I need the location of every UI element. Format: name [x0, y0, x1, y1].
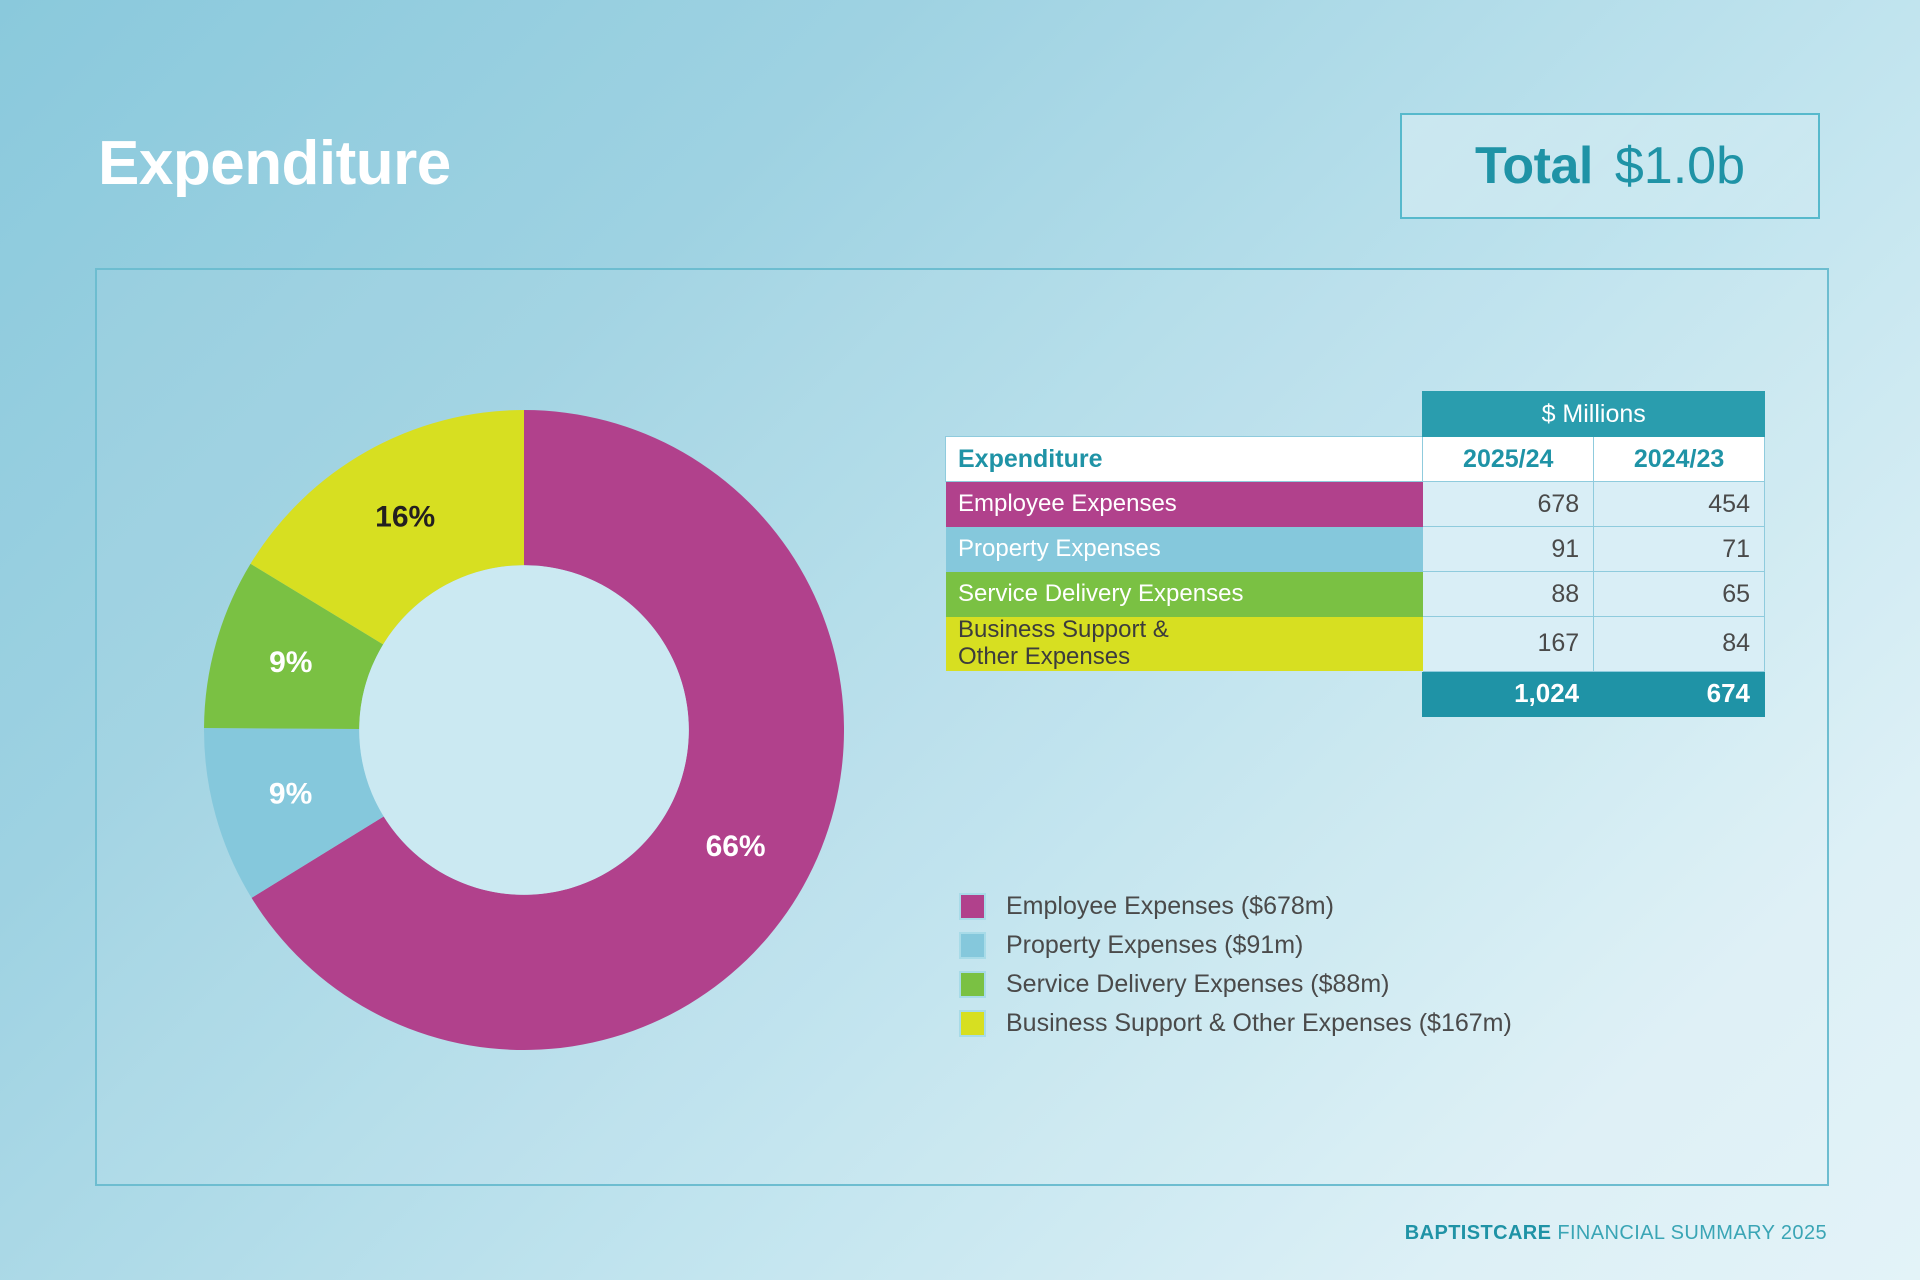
total-badge: Total $1.0b — [1400, 113, 1820, 219]
expenditure-table: $ Millions Expenditure 2025/24 2024/23 E… — [945, 391, 1765, 717]
donut-label-employee: 66% — [706, 830, 766, 863]
donut-center-hole — [359, 565, 689, 895]
legend-item-business: Business Support & Other Expenses ($167m… — [959, 1010, 1512, 1037]
footer: BAPTISTCARE FINANCIAL SUMMARY 2025 — [1405, 1222, 1827, 1245]
row-value-service-prior: 65 — [1594, 572, 1765, 617]
units-blank-cell — [946, 392, 1423, 437]
table-row: Employee Expenses 678 454 — [946, 482, 1765, 527]
table-row: Business Support & Other Expenses 167 84 — [946, 617, 1765, 672]
total-value: $1.0b — [1615, 136, 1745, 196]
row-label-service-delivery-expenses: Service Delivery Expenses — [946, 572, 1423, 617]
page-title: Expenditure — [98, 133, 451, 195]
row-value-employee-prior: 454 — [1594, 482, 1765, 527]
row-label-property-expenses: Property Expenses — [946, 527, 1423, 572]
legend-label-service: Service Delivery Expenses ($88m) — [1006, 972, 1389, 997]
table-row: Service Delivery Expenses 88 65 — [946, 572, 1765, 617]
table-header-row: Expenditure 2025/24 2024/23 — [946, 437, 1765, 482]
row-value-employee-current: 678 — [1423, 482, 1594, 527]
legend-item-property: Property Expenses ($91m) — [959, 932, 1512, 959]
legend-label-property: Property Expenses ($91m) — [1006, 933, 1303, 958]
legend-swatch-employee-icon — [959, 893, 986, 920]
row-value-service-current: 88 — [1423, 572, 1594, 617]
legend-swatch-business-icon — [959, 1010, 986, 1037]
column-header-2024-23: 2024/23 — [1594, 437, 1765, 482]
units-header-cell: $ Millions — [1423, 392, 1765, 437]
row-value-business-current: 167 — [1423, 617, 1594, 672]
total-label: Total — [1475, 136, 1593, 196]
donut-label-business: 16% — [375, 501, 435, 534]
total-blank-cell — [946, 671, 1423, 716]
row-label-business-line2: Other Expenses — [958, 644, 1422, 671]
row-label-business-line1: Business Support & — [958, 617, 1422, 644]
row-value-business-prior: 84 — [1594, 617, 1765, 672]
expenditure-donut-chart: 66%9%9%16% — [204, 410, 844, 1050]
footer-brand: BAPTISTCARE — [1405, 1222, 1552, 1244]
legend-label-employee: Employee Expenses ($678m) — [1006, 894, 1334, 919]
donut-label-property: 9% — [269, 777, 312, 810]
row-value-property-prior: 71 — [1594, 527, 1765, 572]
row-label-business-support-expenses: Business Support & Other Expenses — [946, 617, 1423, 672]
legend-swatch-service-icon — [959, 971, 986, 998]
footer-text: FINANCIAL SUMMARY 2025 — [1551, 1222, 1827, 1244]
chart-legend: Employee Expenses ($678m) Property Expen… — [959, 893, 1512, 1037]
column-header-2025-24: 2025/24 — [1423, 437, 1594, 482]
row-label-employee-expenses: Employee Expenses — [946, 482, 1423, 527]
table-units-row: $ Millions — [946, 392, 1765, 437]
table-row: Property Expenses 91 71 — [946, 527, 1765, 572]
donut-slices — [204, 410, 844, 1050]
legend-label-business: Business Support & Other Expenses ($167m… — [1006, 1011, 1512, 1036]
total-value-current: 1,024 — [1423, 671, 1594, 716]
legend-item-employee: Employee Expenses ($678m) — [959, 893, 1512, 920]
total-value-prior: 674 — [1594, 671, 1765, 716]
donut-label-service: 9% — [269, 646, 312, 679]
column-header-expenditure: Expenditure — [946, 437, 1423, 482]
table-total-row: 1,024 674 — [946, 671, 1765, 716]
legend-item-service: Service Delivery Expenses ($88m) — [959, 971, 1512, 998]
row-value-property-current: 91 — [1423, 527, 1594, 572]
legend-swatch-property-icon — [959, 932, 986, 959]
